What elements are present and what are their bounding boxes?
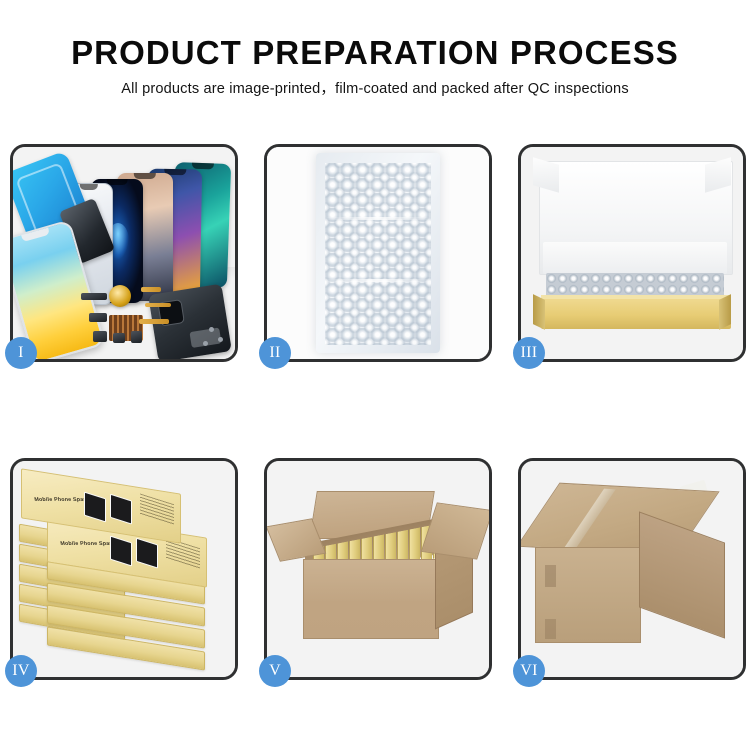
notch: [192, 163, 215, 170]
flex-cable-3: [139, 319, 169, 324]
box-screen-image-4: [136, 538, 158, 569]
notch: [80, 184, 98, 190]
wrap-seam-1: [325, 217, 431, 220]
screw-1: [209, 327, 214, 332]
box-side-right: [719, 294, 731, 330]
step-4-image: Mobile Phone Spare Parts Mobile Phone Sp…: [13, 461, 235, 677]
step-badge-4: IV: [5, 655, 37, 687]
carton-edge-seam-top: [545, 565, 556, 587]
screw-2: [218, 337, 223, 342]
step-badge-3: III: [513, 337, 545, 369]
carton-edge-seam-bottom: [545, 619, 556, 639]
step-3-image: [521, 147, 743, 359]
step-1-image: [13, 147, 235, 359]
step-2-image: [267, 147, 489, 359]
chip-block-3: [113, 333, 125, 343]
chip-block-1: [89, 313, 107, 322]
box-side-left: [533, 294, 545, 330]
page-title: PRODUCT PREPARATION PROCESS: [0, 36, 750, 69]
box-stack: Mobile Phone Spare Parts Mobile Phone Sp…: [13, 461, 235, 677]
process-step-panel-2[interactable]: II: [264, 144, 492, 362]
step-badge-1: I: [5, 337, 37, 369]
process-step-panel-1[interactable]: I: [10, 144, 238, 362]
page-subtitle: All products are image-printed，film-coat…: [0, 82, 750, 97]
product-preparation-page: PRODUCT PREPARATION PROCESS All products…: [0, 0, 750, 750]
carton-right-face: [639, 511, 725, 638]
bubble-layer-back: [325, 163, 431, 345]
step-5-image: [267, 461, 489, 677]
screw-3: [203, 341, 208, 346]
process-step-panel-3[interactable]: III: [518, 144, 746, 362]
process-step-panel-5[interactable]: V: [264, 458, 492, 680]
box-spec-lines-1: [140, 493, 174, 526]
chip-block-2: [93, 331, 107, 342]
chip-strip: [81, 293, 107, 300]
process-step-panel-4[interactable]: Mobile Phone Spare Parts Mobile Phone Sp…: [10, 458, 238, 680]
box-screen-image-2: [110, 494, 132, 525]
box-spec-lines-2: [166, 537, 200, 570]
step-badge-6: VI: [513, 655, 545, 687]
process-step-grid: I II: [10, 144, 740, 680]
process-step-panel-6[interactable]: VI: [518, 458, 746, 680]
bubble-wrap-bundle: [316, 153, 440, 353]
carton-front-panel: [303, 559, 439, 639]
gold-coil-part: [109, 285, 131, 307]
flex-cable-2: [145, 303, 171, 307]
notch: [134, 173, 156, 179]
header: PRODUCT PREPARATION PROCESS All products…: [0, 36, 750, 97]
flex-cable-1: [141, 287, 161, 292]
step-badge-2: II: [259, 337, 291, 369]
step-badge-5: V: [259, 655, 291, 687]
wrap-seam-2: [325, 279, 431, 282]
speaker-module: [131, 331, 142, 343]
step-6-image: [521, 461, 743, 677]
box-front-panel: [541, 299, 731, 329]
foam-padding: [543, 242, 727, 274]
